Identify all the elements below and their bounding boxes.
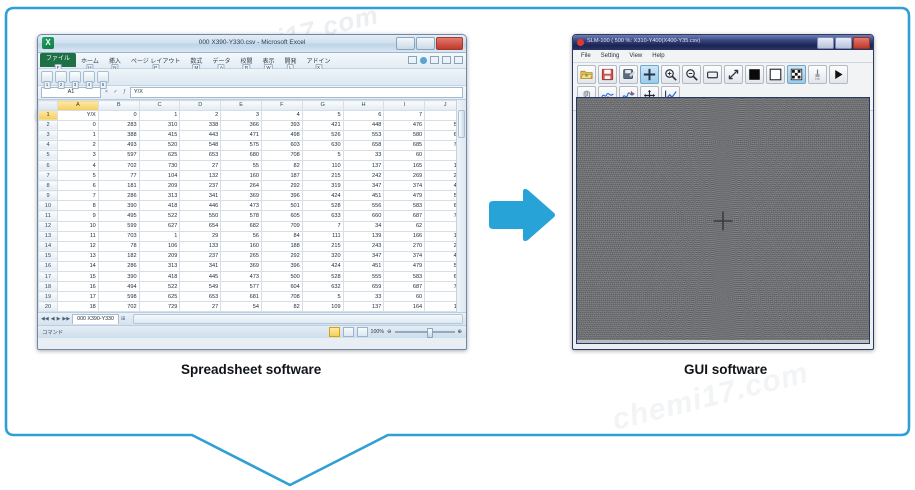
spreadsheet-body[interactable]: 1Y/X012345678202833103383663934214484765… <box>39 110 466 312</box>
row-header[interactable]: 14 <box>39 241 58 251</box>
ribbon-tab-addins[interactable]: アドイン X <box>302 53 336 65</box>
ribbon-tab-file[interactable]: ファイル F <box>40 53 76 67</box>
table-cell[interactable]: 577 <box>221 282 262 292</box>
open-folder-icon[interactable] <box>577 65 596 84</box>
column-header-B[interactable]: B <box>98 101 139 111</box>
table-cell[interactable]: 495 <box>98 211 139 221</box>
table-row[interactable]: 1513182209237265292320347374402 <box>39 251 466 261</box>
table-cell[interactable]: 209 <box>139 181 180 191</box>
spreadsheet-window[interactable]: X 000 X390-Y330.csv - Microsoft Excel ファ… <box>37 34 467 350</box>
table-cell[interactable]: 320 <box>302 251 343 261</box>
table-cell[interactable]: 390 <box>98 201 139 211</box>
table-cell[interactable]: 680 <box>221 150 262 160</box>
table-cell[interactable]: 188 <box>261 241 302 251</box>
column-header-I[interactable]: I <box>384 101 425 111</box>
ribbon-tab-page-layout[interactable]: ページ レイアウト P <box>126 53 186 65</box>
table-cell[interactable]: 709 <box>261 221 302 231</box>
minimize-button[interactable] <box>396 37 415 50</box>
table-cell[interactable]: 29 <box>180 231 221 241</box>
row-header[interactable]: 6 <box>39 160 58 170</box>
table-row[interactable]: 31388415443471498526553580608 <box>39 130 466 140</box>
table-cell[interactable]: 575 <box>221 140 262 150</box>
table-cell[interactable]: 625 <box>139 150 180 160</box>
page-layout-view-icon[interactable] <box>343 327 354 337</box>
table-cell[interactable]: 479 <box>384 261 425 271</box>
ribbon-tab-home[interactable]: ホーム H <box>76 53 104 65</box>
table-cell[interactable]: 627 <box>139 221 180 231</box>
table-cell[interactable]: 687 <box>384 282 425 292</box>
table-cell[interactable]: 5 <box>302 150 343 160</box>
table-cell[interactable]: 418 <box>139 272 180 282</box>
table-cell[interactable]: 16 <box>58 282 99 292</box>
table-cell[interactable]: 729 <box>139 302 180 312</box>
row-header[interactable]: 10 <box>39 201 58 211</box>
excel-window-controls[interactable] <box>396 37 463 50</box>
row-header[interactable]: 16 <box>39 261 58 271</box>
ribbon-tab-formulas[interactable]: 数式 M <box>185 53 207 65</box>
table-cell[interactable]: 498 <box>261 130 302 140</box>
table-cell[interactable]: 237 <box>180 251 221 261</box>
gui-menu-bar[interactable]: File Setting View Help <box>573 50 873 63</box>
sheet-tab[interactable]: 000 X390-Y330 <box>72 314 119 324</box>
table-cell[interactable]: 60 <box>384 150 425 160</box>
row-header[interactable]: 15 <box>39 251 58 261</box>
table-cell[interactable]: 182 <box>98 251 139 261</box>
table-cell[interactable]: 283 <box>98 120 139 130</box>
table-cell[interactable]: 243 <box>343 241 384 251</box>
table-cell[interactable]: 27 <box>180 160 221 170</box>
table-cell[interactable]: 522 <box>139 282 180 292</box>
table-cell[interactable]: 187 <box>261 171 302 181</box>
table-row[interactable]: 1614286313341369396424451479506 <box>39 261 466 271</box>
table-cell[interactable]: 165 <box>384 160 425 170</box>
insert-function-icon[interactable]: ƒ <box>121 89 128 96</box>
table-cell[interactable]: 269 <box>384 171 425 181</box>
qat-save-icon[interactable]: 1 <box>41 71 53 83</box>
table-row[interactable]: 535976256536807085336087 <box>39 150 466 160</box>
table-cell[interactable]: 473 <box>221 272 262 282</box>
table-cell[interactable]: 528 <box>302 201 343 211</box>
table-cell[interactable]: 338 <box>180 120 221 130</box>
column-header-D[interactable]: D <box>180 101 221 111</box>
table-cell[interactable]: 215 <box>302 171 343 181</box>
table-cell[interactable]: 603 <box>261 140 302 150</box>
column-header-A[interactable]: A <box>58 101 99 111</box>
table-cell[interactable]: 160 <box>221 171 262 181</box>
save-icon[interactable] <box>598 65 617 84</box>
table-cell[interactable]: 528 <box>302 272 343 282</box>
table-cell[interactable]: 270 <box>384 241 425 251</box>
ribbon-tab-view[interactable]: 表示 W <box>257 53 279 65</box>
table-cell[interactable]: 553 <box>343 130 384 140</box>
row-header[interactable]: 2 <box>39 120 58 130</box>
table-cell[interactable]: 139 <box>343 231 384 241</box>
gui-software-window[interactable]: SLM-100 ( 500 %: X310-Y400(X400-Y35.csv)… <box>572 34 874 350</box>
table-cell[interactable]: 2 <box>180 110 221 120</box>
excel-ribbon-tabs-bar[interactable]: ファイル F ホーム H 挿入 N ページ レイアウト P 数式 M データ A <box>38 53 466 69</box>
row-header[interactable]: 9 <box>39 191 58 201</box>
table-cell[interactable]: 526 <box>302 130 343 140</box>
column-header-G[interactable]: G <box>302 101 343 111</box>
select-all-corner[interactable] <box>39 101 58 111</box>
minimize-ribbon-icon[interactable] <box>430 56 439 64</box>
table-cell[interactable]: 341 <box>180 261 221 271</box>
row-header[interactable]: 7 <box>39 171 58 181</box>
toolbar-row-1[interactable]: bit <box>577 65 869 84</box>
table-cell[interactable]: 580 <box>384 130 425 140</box>
ribbon-right-controls[interactable] <box>408 56 463 64</box>
table-row[interactable]: 13117031295684111139166193 <box>39 231 466 241</box>
table-cell[interactable]: 7 <box>384 110 425 120</box>
ribbon-tab-review[interactable]: 校閲 R <box>235 53 257 65</box>
next-sheet-icon[interactable]: ▶ <box>57 316 61 322</box>
table-cell[interactable]: 583 <box>384 201 425 211</box>
maximize-button[interactable] <box>416 37 435 50</box>
table-cell[interactable]: 660 <box>343 211 384 221</box>
table-cell[interactable]: 78 <box>98 241 139 251</box>
table-cell[interactable]: 286 <box>98 191 139 201</box>
table-cell[interactable]: 8 <box>58 201 99 211</box>
table-row[interactable]: 141278106133160188215243270298 <box>39 241 466 251</box>
spreadsheet-grid[interactable]: A B C D E F G H I J 1Y/X0123456782028331… <box>38 100 466 312</box>
table-cell[interactable]: 583 <box>384 272 425 282</box>
table-cell[interactable]: 82 <box>261 160 302 170</box>
spreadsheet-table[interactable]: A B C D E F G H I J 1Y/X0123456782028331… <box>38 100 466 312</box>
table-cell[interactable]: 653 <box>180 292 221 302</box>
table-cell[interactable]: 11 <box>58 231 99 241</box>
table-cell[interactable]: 17 <box>58 292 99 302</box>
table-cell[interactable]: 0 <box>58 120 99 130</box>
table-cell[interactable]: 265 <box>221 251 262 261</box>
horizontal-scrollbar[interactable] <box>133 314 463 324</box>
table-cell[interactable]: 702 <box>98 160 139 170</box>
table-row[interactable]: 64702730275582110137165192 <box>39 160 466 170</box>
calibrate-icon[interactable]: bit <box>808 65 827 84</box>
table-cell[interactable]: 451 <box>343 191 384 201</box>
table-cell[interactable]: 451 <box>343 261 384 271</box>
table-cell[interactable]: 685 <box>384 140 425 150</box>
table-cell[interactable]: 369 <box>221 191 262 201</box>
table-cell[interactable]: 415 <box>139 130 180 140</box>
vertical-scrollbar[interactable] <box>456 100 466 312</box>
qat-undo-icon[interactable]: 2 <box>55 71 67 83</box>
table-cell[interactable]: 421 <box>302 120 343 130</box>
table-cell[interactable]: 501 <box>261 201 302 211</box>
row-header[interactable]: 19 <box>39 292 58 302</box>
table-cell[interactable]: 166 <box>384 231 425 241</box>
table-cell[interactable]: 27 <box>180 302 221 312</box>
table-cell[interactable]: 366 <box>221 120 262 130</box>
table-row[interactable]: 86181209237264292319347374401 <box>39 181 466 191</box>
checker-pattern-icon[interactable] <box>787 65 806 84</box>
table-cell[interactable]: 319 <box>302 181 343 191</box>
fullscreen-icon[interactable] <box>724 65 743 84</box>
table-cell[interactable]: 473 <box>221 201 262 211</box>
table-cell[interactable]: 443 <box>180 130 221 140</box>
table-row[interactable]: 7577104132160187215242269297 <box>39 171 466 181</box>
table-cell[interactable]: 242 <box>343 171 384 181</box>
cancel-edit-icon[interactable]: × <box>103 89 110 96</box>
row-header[interactable]: 1 <box>39 110 58 120</box>
table-cell[interactable]: 5 <box>302 110 343 120</box>
zoom-slider[interactable] <box>395 331 455 333</box>
image-canvas[interactable] <box>576 97 870 344</box>
table-row[interactable]: 2018702729275482109137164192 <box>39 302 466 312</box>
table-cell[interactable]: 106 <box>139 241 180 251</box>
table-cell[interactable]: 34 <box>343 221 384 231</box>
table-cell[interactable]: 730 <box>139 160 180 170</box>
table-cell[interactable]: 555 <box>343 272 384 282</box>
table-cell[interactable]: 347 <box>343 251 384 261</box>
table-cell[interactable]: 6 <box>343 110 384 120</box>
table-row[interactable]: 97286313341369396424451479506 <box>39 191 466 201</box>
table-cell[interactable]: 687 <box>384 211 425 221</box>
save-as-icon[interactable] <box>619 65 638 84</box>
row-header[interactable]: 8 <box>39 181 58 191</box>
table-cell[interactable]: 446 <box>180 201 221 211</box>
ribbon-collapse-icon[interactable] <box>408 56 417 64</box>
ribbon-tab-list[interactable]: ファイル F ホーム H 挿入 N ページ レイアウト P 数式 M データ A <box>38 53 466 68</box>
table-cell[interactable]: 341 <box>180 191 221 201</box>
table-cell[interactable]: 471 <box>221 130 262 140</box>
row-header[interactable]: 3 <box>39 130 58 140</box>
table-cell[interactable]: 104 <box>139 171 180 181</box>
table-cell[interactable]: 7 <box>302 221 343 231</box>
sheet-tab-bar[interactable]: ◀◀ ◀ ▶ ▶▶ 000 X390-Y330 ⊞ <box>38 312 466 325</box>
table-cell[interactable]: 374 <box>384 181 425 191</box>
table-cell[interactable]: 56 <box>221 231 262 241</box>
table-cell[interactable]: 605 <box>261 211 302 221</box>
table-cell[interactable]: 597 <box>98 150 139 160</box>
qat-redo-icon[interactable]: 3 <box>69 71 81 83</box>
last-sheet-icon[interactable]: ▶▶ <box>62 316 70 322</box>
row-header[interactable]: 17 <box>39 272 58 282</box>
table-cell[interactable]: 15 <box>58 272 99 282</box>
row-header[interactable]: 13 <box>39 231 58 241</box>
column-header-F[interactable]: F <box>261 101 302 111</box>
table-cell[interactable]: 702 <box>98 302 139 312</box>
table-row[interactable]: 19175986256536817085336088 <box>39 292 466 302</box>
prev-sheet-icon[interactable]: ◀ <box>51 316 55 322</box>
close-button[interactable] <box>853 37 870 49</box>
table-cell[interactable]: 393 <box>261 120 302 130</box>
column-header-C[interactable]: C <box>139 101 180 111</box>
table-cell[interactable]: 476 <box>384 120 425 130</box>
table-cell[interactable]: 550 <box>180 211 221 221</box>
zoom-out-icon[interactable] <box>682 65 701 84</box>
table-cell[interactable]: 448 <box>343 120 384 130</box>
table-cell[interactable]: 522 <box>139 211 180 221</box>
table-cell[interactable]: 237 <box>180 181 221 191</box>
table-row[interactable]: 108390418446473501528556583610 <box>39 201 466 211</box>
table-cell[interactable]: 310 <box>139 120 180 130</box>
menu-help[interactable]: Help <box>652 53 664 59</box>
confirm-edit-icon[interactable]: ✓ <box>112 89 119 96</box>
play-icon[interactable] <box>829 65 848 84</box>
row-header[interactable]: 11 <box>39 211 58 221</box>
table-cell[interactable]: 77 <box>98 171 139 181</box>
table-cell[interactable]: 0 <box>98 110 139 120</box>
table-cell[interactable]: 10 <box>58 221 99 231</box>
table-row[interactable]: 1Y/X012345678 <box>39 110 466 120</box>
table-cell[interactable]: 681 <box>221 292 262 302</box>
table-cell[interactable]: 33 <box>343 150 384 160</box>
table-cell[interactable]: 62 <box>384 221 425 231</box>
black-fill-icon[interactable] <box>745 65 764 84</box>
table-cell[interactable]: 82 <box>261 302 302 312</box>
table-cell[interactable]: 6 <box>58 181 99 191</box>
close-button[interactable] <box>436 37 463 50</box>
table-cell[interactable]: 424 <box>302 191 343 201</box>
table-cell[interactable]: 598 <box>98 292 139 302</box>
crosshair-grid-icon[interactable] <box>640 65 659 84</box>
table-row[interactable]: 12105996276546827097346289 <box>39 221 466 231</box>
table-cell[interactable]: 654 <box>180 221 221 231</box>
table-cell[interactable]: 264 <box>221 181 262 191</box>
table-cell[interactable]: 625 <box>139 292 180 302</box>
table-cell[interactable]: 494 <box>98 282 139 292</box>
table-cell[interactable]: 132 <box>180 171 221 181</box>
ribbon-tab-developer[interactable]: 開発 L <box>279 53 301 65</box>
table-cell[interactable]: 633 <box>302 211 343 221</box>
new-sheet-icon[interactable]: ⊞ <box>121 316 125 322</box>
table-cell[interactable]: 12 <box>58 241 99 251</box>
table-cell[interactable]: 3 <box>58 150 99 160</box>
column-header-H[interactable]: H <box>343 101 384 111</box>
table-row[interactable]: 1715390418445473500528555583610 <box>39 272 466 282</box>
table-cell[interactable]: 313 <box>139 191 180 201</box>
table-cell[interactable]: 520 <box>139 140 180 150</box>
row-header[interactable]: 20 <box>39 302 58 312</box>
menu-setting[interactable]: Setting <box>601 53 620 59</box>
table-cell[interactable]: 703 <box>98 231 139 241</box>
table-cell[interactable]: 396 <box>261 191 302 201</box>
table-cell[interactable]: 7 <box>58 191 99 201</box>
table-cell[interactable]: 578 <box>221 211 262 221</box>
row-header[interactable]: 5 <box>39 150 58 160</box>
table-cell[interactable]: 599 <box>98 221 139 231</box>
table-cell[interactable]: 286 <box>98 261 139 271</box>
table-cell[interactable]: 630 <box>302 140 343 150</box>
ribbon-tab-insert[interactable]: 挿入 N <box>104 53 126 65</box>
restore-window-icon[interactable] <box>442 56 451 64</box>
vertical-scrollbar-thumb[interactable] <box>458 110 465 138</box>
table-cell[interactable]: 33 <box>343 292 384 302</box>
table-row[interactable]: 1816494522549577604632659687714 <box>39 282 466 292</box>
column-header-E[interactable]: E <box>221 101 262 111</box>
table-cell[interactable]: 55 <box>221 160 262 170</box>
table-cell[interactable]: 84 <box>261 231 302 241</box>
table-cell[interactable]: 313 <box>139 261 180 271</box>
table-cell[interactable]: 396 <box>261 261 302 271</box>
table-cell[interactable]: 137 <box>343 160 384 170</box>
table-row[interactable]: 119495522550578605633660687715 <box>39 211 466 221</box>
table-cell[interactable]: 390 <box>98 272 139 282</box>
row-header[interactable]: 12 <box>39 221 58 231</box>
table-cell[interactable]: 374 <box>384 251 425 261</box>
quick-access-toolbar[interactable]: 1 2 3 4 5 <box>38 69 466 86</box>
zoom-in-icon[interactable] <box>661 65 680 84</box>
quick-access-items[interactable]: 1 2 3 4 5 <box>38 69 466 83</box>
table-cell[interactable]: 60 <box>384 292 425 302</box>
table-cell[interactable]: 164 <box>384 302 425 312</box>
menu-file[interactable]: File <box>581 53 591 59</box>
table-cell[interactable]: 160 <box>221 241 262 251</box>
qat-customize-icon[interactable]: 5 <box>97 71 109 83</box>
formula-input[interactable]: Y/X <box>130 87 463 98</box>
table-cell[interactable]: 5 <box>58 171 99 181</box>
table-cell[interactable]: 347 <box>343 181 384 191</box>
table-cell[interactable]: 418 <box>139 201 180 211</box>
selected-cell[interactable]: Y/X <box>58 110 99 120</box>
zoom-slider-knob[interactable] <box>427 328 433 338</box>
table-cell[interactable]: 54 <box>221 302 262 312</box>
table-cell[interactable]: 500 <box>261 272 302 282</box>
table-row[interactable]: 42493520548575603630658685713 <box>39 140 466 150</box>
zoom-in-icon[interactable]: ⊕ <box>458 329 462 335</box>
table-cell[interactable]: 2 <box>58 140 99 150</box>
table-cell[interactable]: 1 <box>139 231 180 241</box>
gui-window-controls[interactable] <box>817 37 870 49</box>
status-bar-right[interactable]: 100% ⊖ ⊕ <box>329 327 462 337</box>
table-cell[interactable]: 109 <box>302 302 343 312</box>
table-cell[interactable]: 1 <box>58 130 99 140</box>
table-cell[interactable]: 369 <box>221 261 262 271</box>
table-row[interactable]: 20283310338366393421448476503 <box>39 120 466 130</box>
table-cell[interactable]: 4 <box>261 110 302 120</box>
table-cell[interactable]: 292 <box>261 251 302 261</box>
table-cell[interactable]: 632 <box>302 282 343 292</box>
table-cell[interactable]: 111 <box>302 231 343 241</box>
qat-print-preview-icon[interactable]: 4 <box>83 71 95 83</box>
table-cell[interactable]: 14 <box>58 261 99 271</box>
table-cell[interactable]: 653 <box>180 150 221 160</box>
menu-view[interactable]: View <box>629 53 642 59</box>
table-cell[interactable]: 18 <box>58 302 99 312</box>
row-header[interactable]: 18 <box>39 282 58 292</box>
table-cell[interactable]: 659 <box>343 282 384 292</box>
table-cell[interactable]: 133 <box>180 241 221 251</box>
zoom-out-icon[interactable]: ⊖ <box>387 329 391 335</box>
fit-window-icon[interactable] <box>703 65 722 84</box>
table-cell[interactable]: 1 <box>139 110 180 120</box>
table-cell[interactable]: 556 <box>343 201 384 211</box>
page-break-view-icon[interactable] <box>357 327 368 337</box>
help-icon[interactable] <box>420 57 427 64</box>
table-cell[interactable]: 137 <box>343 302 384 312</box>
close-workbook-icon[interactable] <box>454 56 463 64</box>
table-cell[interactable]: 292 <box>261 181 302 191</box>
table-cell[interactable]: 479 <box>384 191 425 201</box>
table-cell[interactable]: 110 <box>302 160 343 170</box>
white-fill-icon[interactable] <box>766 65 785 84</box>
table-cell[interactable]: 181 <box>98 181 139 191</box>
table-cell[interactable]: 493 <box>98 140 139 150</box>
row-header[interactable]: 4 <box>39 140 58 150</box>
table-cell[interactable]: 658 <box>343 140 384 150</box>
table-cell[interactable]: 682 <box>221 221 262 231</box>
maximize-button[interactable] <box>835 37 852 49</box>
table-cell[interactable]: 604 <box>261 282 302 292</box>
minimize-button[interactable] <box>817 37 834 49</box>
table-cell[interactable]: 388 <box>98 130 139 140</box>
table-cell[interactable]: 215 <box>302 241 343 251</box>
normal-view-icon[interactable] <box>329 327 340 337</box>
first-sheet-icon[interactable]: ◀◀ <box>41 316 49 322</box>
table-cell[interactable]: 9 <box>58 211 99 221</box>
table-cell[interactable]: 209 <box>139 251 180 261</box>
table-cell[interactable]: 548 <box>180 140 221 150</box>
